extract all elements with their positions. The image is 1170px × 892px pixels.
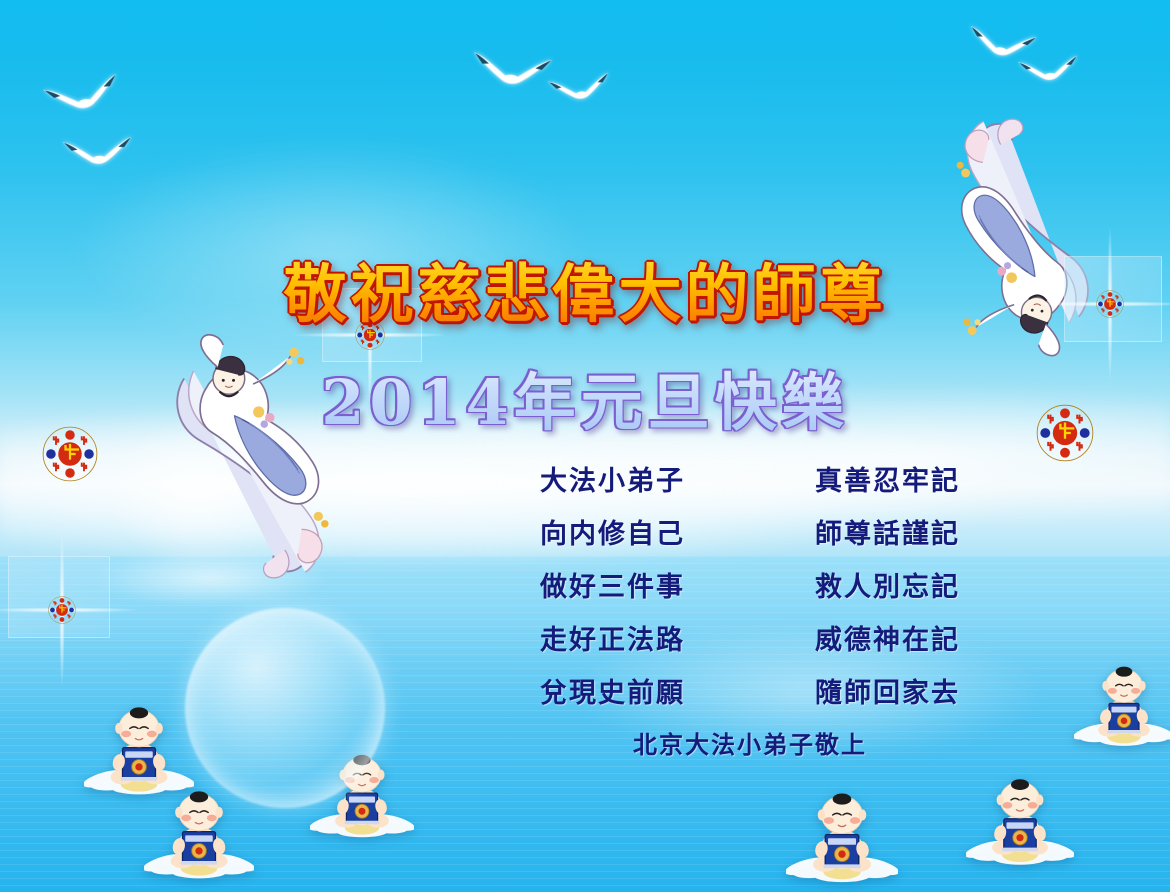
poem-line-right: 隨師回家去 [815,671,960,710]
poem-line-left: 走好正法路 [540,618,685,657]
page-subtitle: 2014年元旦快樂 [0,352,1170,442]
poem-line-left: 兌現史前願 [540,671,685,710]
poem-row: 向内修自己師尊話謹記 [540,505,960,558]
poem-row: 大法小弟子真善忍牢記 [540,452,960,505]
lotus-baby-icon [1074,660,1170,752]
lotus-baby-icon [786,786,898,889]
poem-line-left: 向内修自己 [540,512,685,551]
poem-line-left: 大法小弟子 [540,459,685,498]
poem-row: 走好正法路威德神在記 [540,611,960,664]
poem-row: 兌現史前願隨師回家去 [540,664,960,717]
poem-line-right: 救人別忘記 [815,565,960,604]
poem-block: 大法小弟子真善忍牢記向内修自己師尊話謹記做好三件事救人別忘記走好正法路威德神在記… [540,452,960,717]
poem-line-right: 真善忍牢記 [815,459,960,498]
lotus-baby-icon [144,784,254,885]
poem-line-left: 做好三件事 [540,565,685,604]
poem-line-right: 師尊話謹記 [815,512,960,551]
greeting-card-canvas: 敬祝慈悲偉大的師尊 2014年元旦快樂 大法小弟子真善忍牢記向内修自己師尊話謹記… [0,0,1170,892]
translucent-bubble [185,608,385,808]
falun-emblem-bottom-left [48,596,76,624]
lotus-baby-icon [966,772,1074,871]
poem-line-right: 威德神在記 [815,618,960,657]
poem-row: 做好三件事救人別忘記 [540,558,960,611]
signature: 北京大法小弟子敬上 [540,725,960,760]
page-title: 敬祝慈悲偉大的師尊 [0,244,1170,335]
